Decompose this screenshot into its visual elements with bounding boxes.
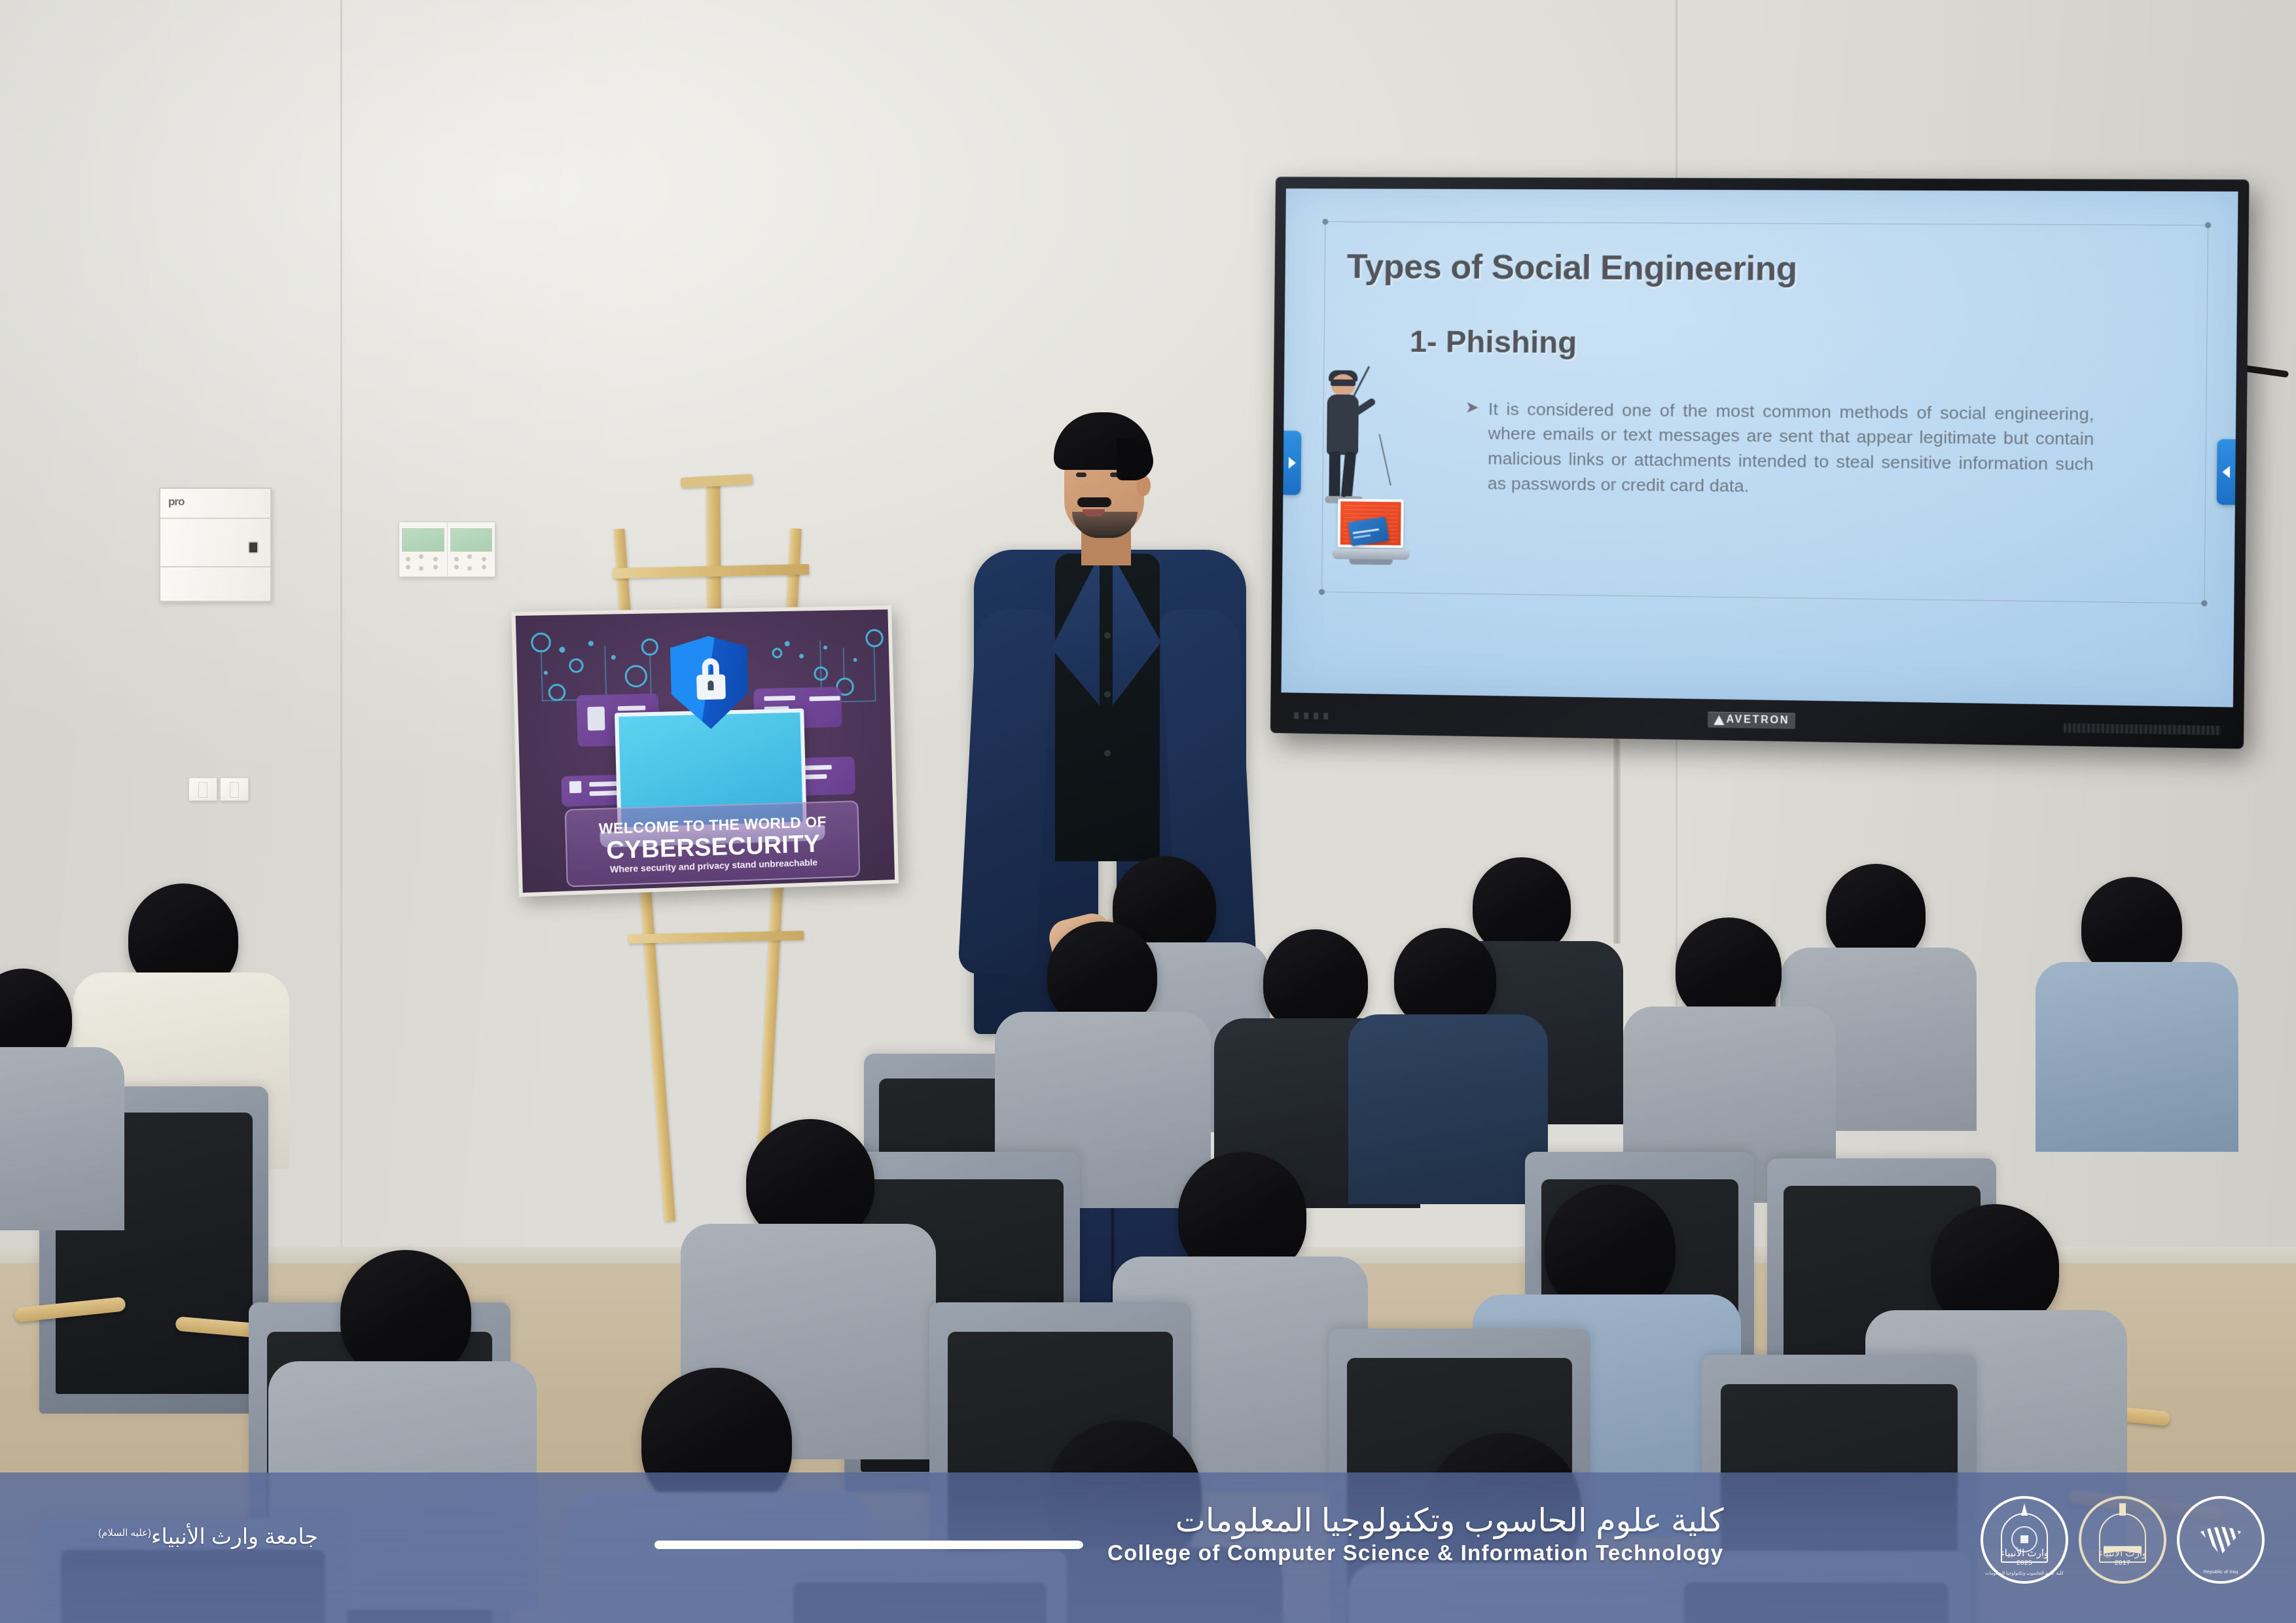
presentation-slide: Types of Social Engineering 1- Phishing …: [1281, 188, 2238, 707]
ir-sensor-strip: [1294, 713, 1328, 720]
lecture-hall-photo: pro: [0, 0, 2296, 1623]
panel-latch[interactable]: [248, 541, 259, 554]
branding-footer: جامعة وارث الأنبياء(عليه السلام) كلية عل…: [0, 1472, 2296, 1623]
college-seal: وارث الأنبياء 2025 كلية علوم الحاسوب وتك…: [1981, 1496, 2068, 1584]
chevron-left-icon: [2222, 466, 2230, 478]
slide-title: Types of Social Engineering: [1346, 247, 1797, 289]
thermostat-pair[interactable]: [399, 522, 495, 577]
attendee-shoulders: [2036, 962, 2238, 1152]
slide-body-block: ➤ It is considered one of the most commo…: [1464, 397, 2094, 502]
display-speaker-grille: [2064, 723, 2221, 735]
thermostat-keys[interactable]: [402, 552, 444, 573]
light-switch-plate[interactable]: [220, 777, 249, 801]
chevron-right-icon: [1289, 457, 1296, 469]
thief-with-pointer-and-phishing-laptop-icon: [1315, 370, 1409, 588]
college-name-block: كلية علوم الحاسوب وتكنولوجيا المعلومات C…: [1107, 1503, 1724, 1565]
attendee-head: [1473, 857, 1571, 954]
thermostat-lcd: [450, 528, 493, 552]
ministry-seal: Republic of Iraq: [2177, 1496, 2265, 1584]
frame-dot: [1319, 589, 1325, 595]
electrical-panel-icon: pro: [159, 488, 272, 602]
thermostat-lcd: [402, 528, 444, 552]
bullet-marker-icon: ➤: [1464, 397, 1479, 495]
attendee-shoulders: [1348, 1014, 1548, 1204]
thermostat-icon[interactable]: [448, 522, 495, 577]
slide-subtitle: 1- Phishing: [1409, 323, 1577, 360]
attendee-shoulders: [0, 1047, 124, 1230]
panel-label: pro: [168, 495, 184, 508]
attendee-head: [1394, 928, 1496, 1029]
attendee-head: [1263, 929, 1368, 1033]
university-honorific: (عليه السلام): [98, 1527, 151, 1539]
university-seal: وارث الأنبياء 2017: [2079, 1496, 2166, 1584]
college-name-arabic: كلية علوم الحاسوب وتكنولوجيا المعلومات: [1107, 1503, 1724, 1541]
university-name-arabic: جامعة وارث الأنبياء(عليه السلام): [98, 1524, 318, 1549]
attendee-head: [1545, 1185, 1676, 1313]
light-switch-plate[interactable]: [188, 777, 217, 801]
footer-divider: [655, 1541, 1079, 1549]
frame-dot: [2202, 600, 2208, 606]
footer-emblems: وارث الأنبياء 2025 كلية علوم الحاسوب وتك…: [1981, 1496, 2265, 1584]
attendee-head: [340, 1250, 471, 1378]
display-brand-logo: AVETRON: [1708, 711, 1796, 728]
thermostat-icon[interactable]: [399, 522, 448, 577]
interactive-display[interactable]: Types of Social Engineering 1- Phishing …: [1270, 177, 2250, 749]
display-bezel: Types of Social Engineering 1- Phishing …: [1270, 177, 2250, 749]
attendee-head: [1676, 918, 1782, 1021]
display-brand-label: AVETRON: [1726, 714, 1789, 727]
frame-dot: [1322, 219, 1328, 224]
college-name-english: College of Computer Science & Informatio…: [1107, 1541, 1724, 1565]
display-left-toolbar-tab[interactable]: [1283, 431, 1301, 495]
display-screen[interactable]: Types of Social Engineering 1- Phishing …: [1281, 188, 2238, 707]
avetron-triangle-icon: [1713, 715, 1724, 724]
thermostat-keys[interactable]: [450, 552, 493, 573]
frame-dot: [2205, 223, 2211, 228]
slide-body-text: It is considered one of the most common …: [1488, 397, 2094, 502]
display-right-toolbar-tab[interactable]: [2217, 439, 2236, 505]
